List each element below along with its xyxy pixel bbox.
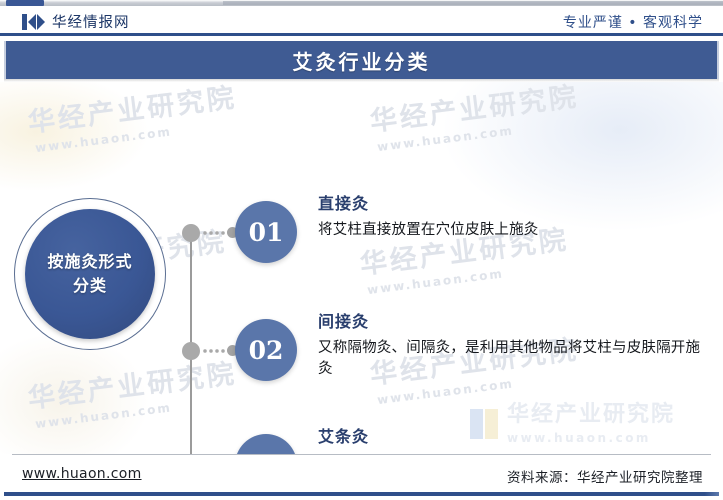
- background-tint-left-bottom: [0, 332, 150, 454]
- page-footer: www.huaon.com 资料来源：华经产业研究院整理: [0, 454, 723, 500]
- item-description: 又称隔物灸、间隔灸，是利用其他物品将艾柱与皮肤隔开施灸: [318, 338, 713, 381]
- footer-bottom-bar: [4, 492, 719, 496]
- item-text-block: 直接灸 将艾柱直接放置在穴位皮肤上施灸: [318, 194, 713, 241]
- hub-node[interactable]: 按施灸形式 分类: [14, 198, 166, 350]
- dotted-connector: [202, 231, 228, 235]
- slide-root: 华经情报网 专业严谨 • 客观科学 艾灸行业分类 华经产业研究院 www.hua…: [0, 0, 723, 500]
- item-number-badge[interactable]: 02: [235, 319, 297, 381]
- diagram-canvas: 华经产业研究院 www.huaon.com 华经产业研究院 www.huaon.…: [0, 82, 723, 454]
- dotted-connector: [202, 349, 228, 353]
- header-slogan: 专业严谨 • 客观科学: [563, 12, 703, 32]
- spine-dot-large: [182, 224, 200, 242]
- brand[interactable]: 华经情报网: [22, 11, 130, 32]
- item-number: 02: [249, 336, 284, 365]
- footer-website-link[interactable]: www.huaon.com: [22, 466, 142, 482]
- item-description: 将艾柱直接放置在穴位皮肤上施灸: [318, 220, 713, 241]
- hub-label: 按施灸形式 分类: [47, 250, 132, 298]
- title-banner: 艾灸行业分类: [4, 41, 719, 79]
- hub-core: 按施灸形式 分类: [25, 209, 155, 339]
- corner-watermark-text: 华经产业研究院: [507, 402, 675, 427]
- hub-label-line1: 按施灸形式: [47, 252, 132, 271]
- item-text-block: 间接灸 又称隔物灸、间隔灸，是利用其他物品将艾柱与皮肤隔开施灸: [318, 312, 713, 381]
- footer-source-note: 资料来源：华经产业研究院整理: [507, 466, 703, 486]
- huajing-play-mark-icon: [22, 14, 45, 30]
- scrollbar-track[interactable]: [223, 1, 723, 5]
- hub-label-line2: 分类: [73, 276, 107, 295]
- item-title: 直接灸: [318, 194, 713, 215]
- footer-divider: [12, 454, 711, 455]
- page-title: 艾灸行业分类: [293, 46, 431, 75]
- item-number-badge[interactable]: 01: [235, 201, 297, 263]
- brand-name: 华经情报网: [52, 11, 130, 32]
- watermark-url: www.huaon.com: [366, 258, 572, 297]
- item-number: 01: [249, 218, 284, 247]
- item-number-badge[interactable]: 03: [235, 434, 297, 454]
- item-text-block: 艾条灸 又称艾卷灸，是将艾条点燃后在施灸部位（穴位）进行熏灸: [318, 427, 713, 454]
- background-tint-left-top: [0, 82, 150, 192]
- item-title: 艾条灸: [318, 427, 713, 448]
- page-header: 华经情报网 专业严谨 • 客观科学: [0, 6, 723, 36]
- item-title: 间接灸: [318, 312, 713, 333]
- spine-dot-large: [182, 342, 200, 360]
